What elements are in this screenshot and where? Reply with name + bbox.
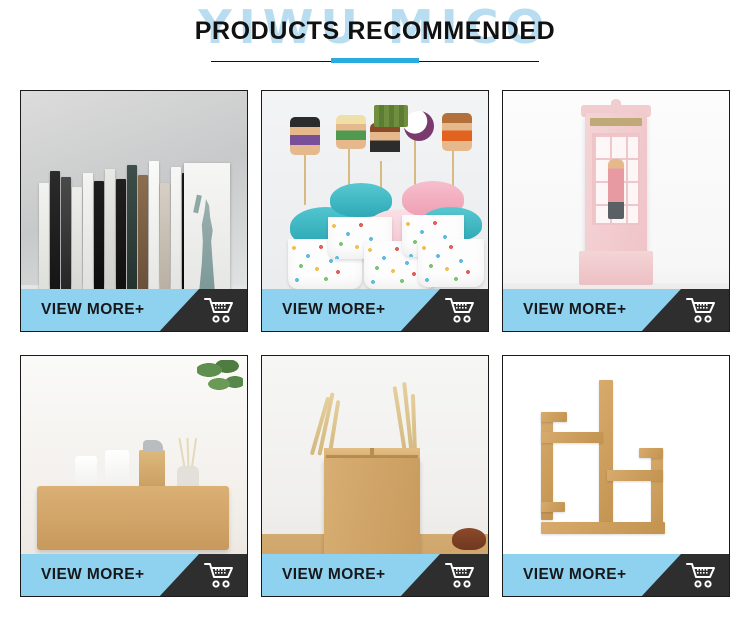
product-card-1[interactable]: VIEW MORE+ [20, 90, 248, 332]
view-more-bar-4[interactable]: VIEW MORE+ [21, 554, 247, 596]
page-header: YIWU MICO PRODUCTS RECOMMENDED [0, 0, 750, 76]
view-more-bar-3[interactable]: VIEW MORE+ [503, 289, 729, 331]
view-more-label: VIEW MORE+ [41, 554, 144, 596]
title-divider-accent [331, 58, 419, 63]
view-more-bar-2[interactable]: VIEW MORE+ [262, 289, 488, 331]
product-card-2[interactable]: VIEW MORE+ [261, 90, 489, 332]
product-card-5[interactable]: VIEW MORE+ [261, 355, 489, 597]
product-card-6[interactable]: VIEW MORE+ [502, 355, 730, 597]
shopping-cart-icon[interactable] [686, 296, 716, 324]
page-title: PRODUCTS RECOMMENDED [0, 16, 750, 46]
product-card-3[interactable]: VIEW MORE+ [502, 90, 730, 332]
shopping-cart-icon[interactable] [204, 296, 234, 324]
view-more-label: VIEW MORE+ [523, 289, 626, 331]
view-more-bar-6[interactable]: VIEW MORE+ [503, 554, 729, 596]
product-card-4[interactable]: VIEW MORE+ [20, 355, 248, 597]
view-more-bar-5[interactable]: VIEW MORE+ [262, 554, 488, 596]
product-grid: VIEW MORE+ [20, 90, 730, 597]
view-more-label: VIEW MORE+ [523, 554, 626, 596]
shopping-cart-icon[interactable] [445, 296, 475, 324]
shopping-cart-icon[interactable] [686, 561, 716, 589]
view-more-label: VIEW MORE+ [282, 554, 385, 596]
shopping-cart-icon[interactable] [445, 561, 475, 589]
shopping-cart-icon[interactable] [204, 561, 234, 589]
view-more-bar-1[interactable]: VIEW MORE+ [21, 289, 247, 331]
view-more-label: VIEW MORE+ [282, 289, 385, 331]
view-more-label: VIEW MORE+ [41, 289, 144, 331]
